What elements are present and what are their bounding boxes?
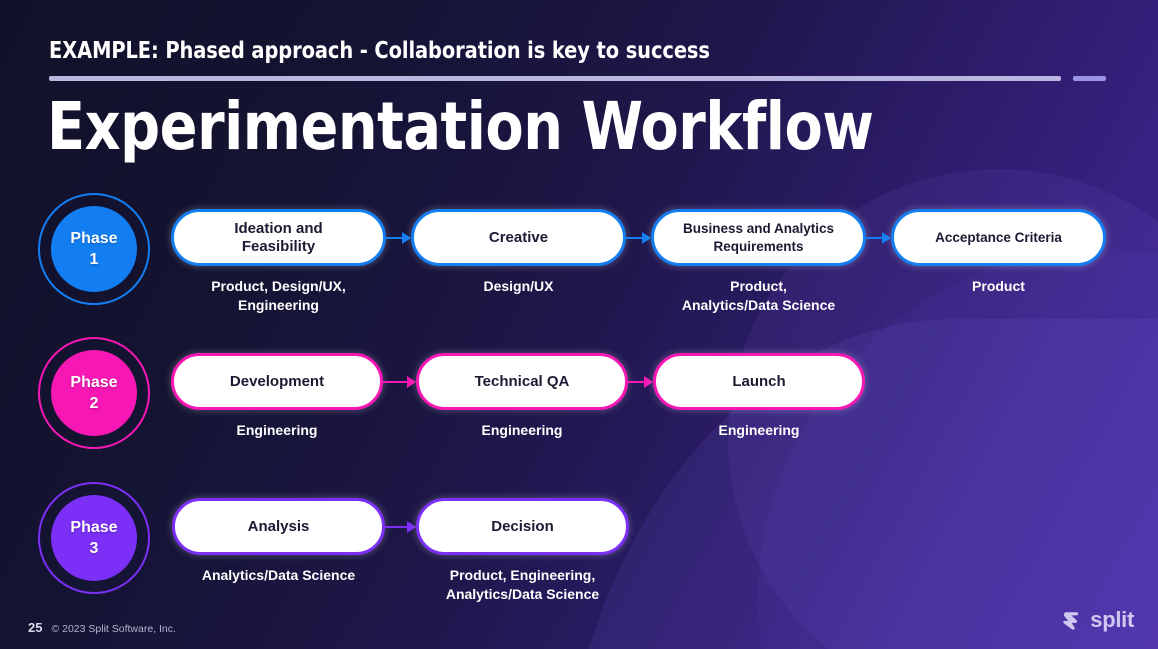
workflow-step-label: Acceptance Criteria: [935, 229, 1062, 247]
page-title: Experimentation Workflow: [47, 92, 873, 162]
connector-arrowhead-icon: [407, 521, 416, 533]
phase-badge-1[interactable]: Phase1: [38, 193, 150, 305]
workflow-connector-arrow: [628, 379, 653, 385]
connector-line: [386, 237, 402, 240]
phase-index: 2: [70, 393, 117, 414]
workflow-step-pill[interactable]: Technical QA: [416, 353, 628, 410]
workflow-connector-arrow: [385, 524, 416, 530]
connector-arrowhead-icon: [407, 376, 416, 388]
workflow-connector-arrow: [383, 379, 416, 385]
connector-arrowhead-icon: [644, 376, 653, 388]
connector-line: [866, 237, 882, 240]
connector-arrowhead-icon: [642, 232, 651, 244]
slide-eyebrow: EXAMPLE: Phased approach - Collaboration…: [49, 36, 710, 64]
header-divider-short: [1073, 76, 1106, 81]
slide-canvas: EXAMPLE: Phased approach - Collaboration…: [0, 0, 1158, 649]
phase-badge-label: Phase1: [70, 228, 117, 270]
workflow-step-label: Launch: [732, 373, 785, 391]
workflow-step-caption: Analytics/Data Science: [172, 566, 385, 585]
workflow-step-label: Technical QA: [475, 373, 570, 391]
workflow-step-pill[interactable]: Development: [171, 353, 383, 410]
workflow-step-label: Analysis: [248, 518, 310, 536]
workflow-step-label: Decision: [491, 518, 554, 536]
workflow-step-label: Creative: [489, 229, 548, 247]
workflow-step-pill[interactable]: Launch: [653, 353, 865, 410]
connector-arrowhead-icon: [402, 232, 411, 244]
split-logo-icon: [1059, 608, 1083, 632]
connector-line: [383, 381, 407, 384]
workflow-step-caption: Engineering: [416, 421, 628, 440]
workflow-step-pill[interactable]: Analysis: [172, 498, 385, 555]
workflow-step-label: Development: [230, 373, 324, 391]
phase-badge-label: Phase2: [70, 372, 117, 414]
connector-line: [626, 237, 642, 240]
workflow-step-label: Ideation and Feasibility: [234, 220, 322, 256]
page-number: 25: [28, 620, 42, 635]
header-divider-long: [49, 76, 1061, 81]
copyright-text: © 2023 Split Software, Inc.: [51, 623, 175, 635]
phase-badge-3[interactable]: Phase3: [38, 482, 150, 594]
phase-word: Phase: [70, 228, 117, 249]
workflow-step-caption: Product, Analytics/Data Science: [651, 277, 866, 315]
phase-word: Phase: [70, 372, 117, 393]
workflow-step-caption: Engineering: [653, 421, 865, 440]
workflow-step-pill[interactable]: Decision: [416, 498, 629, 555]
brand-name: split: [1090, 607, 1134, 633]
phase-index: 1: [70, 249, 117, 270]
workflow-step-pill[interactable]: Business and Analytics Requirements: [651, 209, 866, 266]
workflow-step-pill[interactable]: Creative: [411, 209, 626, 266]
workflow-step-caption: Product: [891, 277, 1106, 296]
workflow-step-pill[interactable]: Acceptance Criteria: [891, 209, 1106, 266]
phase-badge-label: Phase3: [70, 517, 117, 559]
connector-line: [385, 526, 407, 529]
brand-logo: split: [1059, 607, 1134, 633]
phase-word: Phase: [70, 517, 117, 538]
workflow-step-label: Business and Analytics Requirements: [683, 220, 834, 256]
phase-index: 3: [70, 538, 117, 559]
workflow-step-caption: Engineering: [171, 421, 383, 440]
workflow-step-caption: Product, Design/UX, Engineering: [171, 277, 386, 315]
connector-arrowhead-icon: [882, 232, 891, 244]
slide-footer: 25 © 2023 Split Software, Inc.: [28, 620, 176, 635]
workflow-connector-arrow: [386, 235, 411, 241]
connector-line: [628, 381, 644, 384]
workflow-step-caption: Design/UX: [411, 277, 626, 296]
workflow-connector-arrow: [626, 235, 651, 241]
workflow-connector-arrow: [866, 235, 891, 241]
workflow-step-caption: Product, Engineering, Analytics/Data Sci…: [416, 566, 629, 604]
workflow-step-pill[interactable]: Ideation and Feasibility: [171, 209, 386, 266]
phase-badge-2[interactable]: Phase2: [38, 337, 150, 449]
